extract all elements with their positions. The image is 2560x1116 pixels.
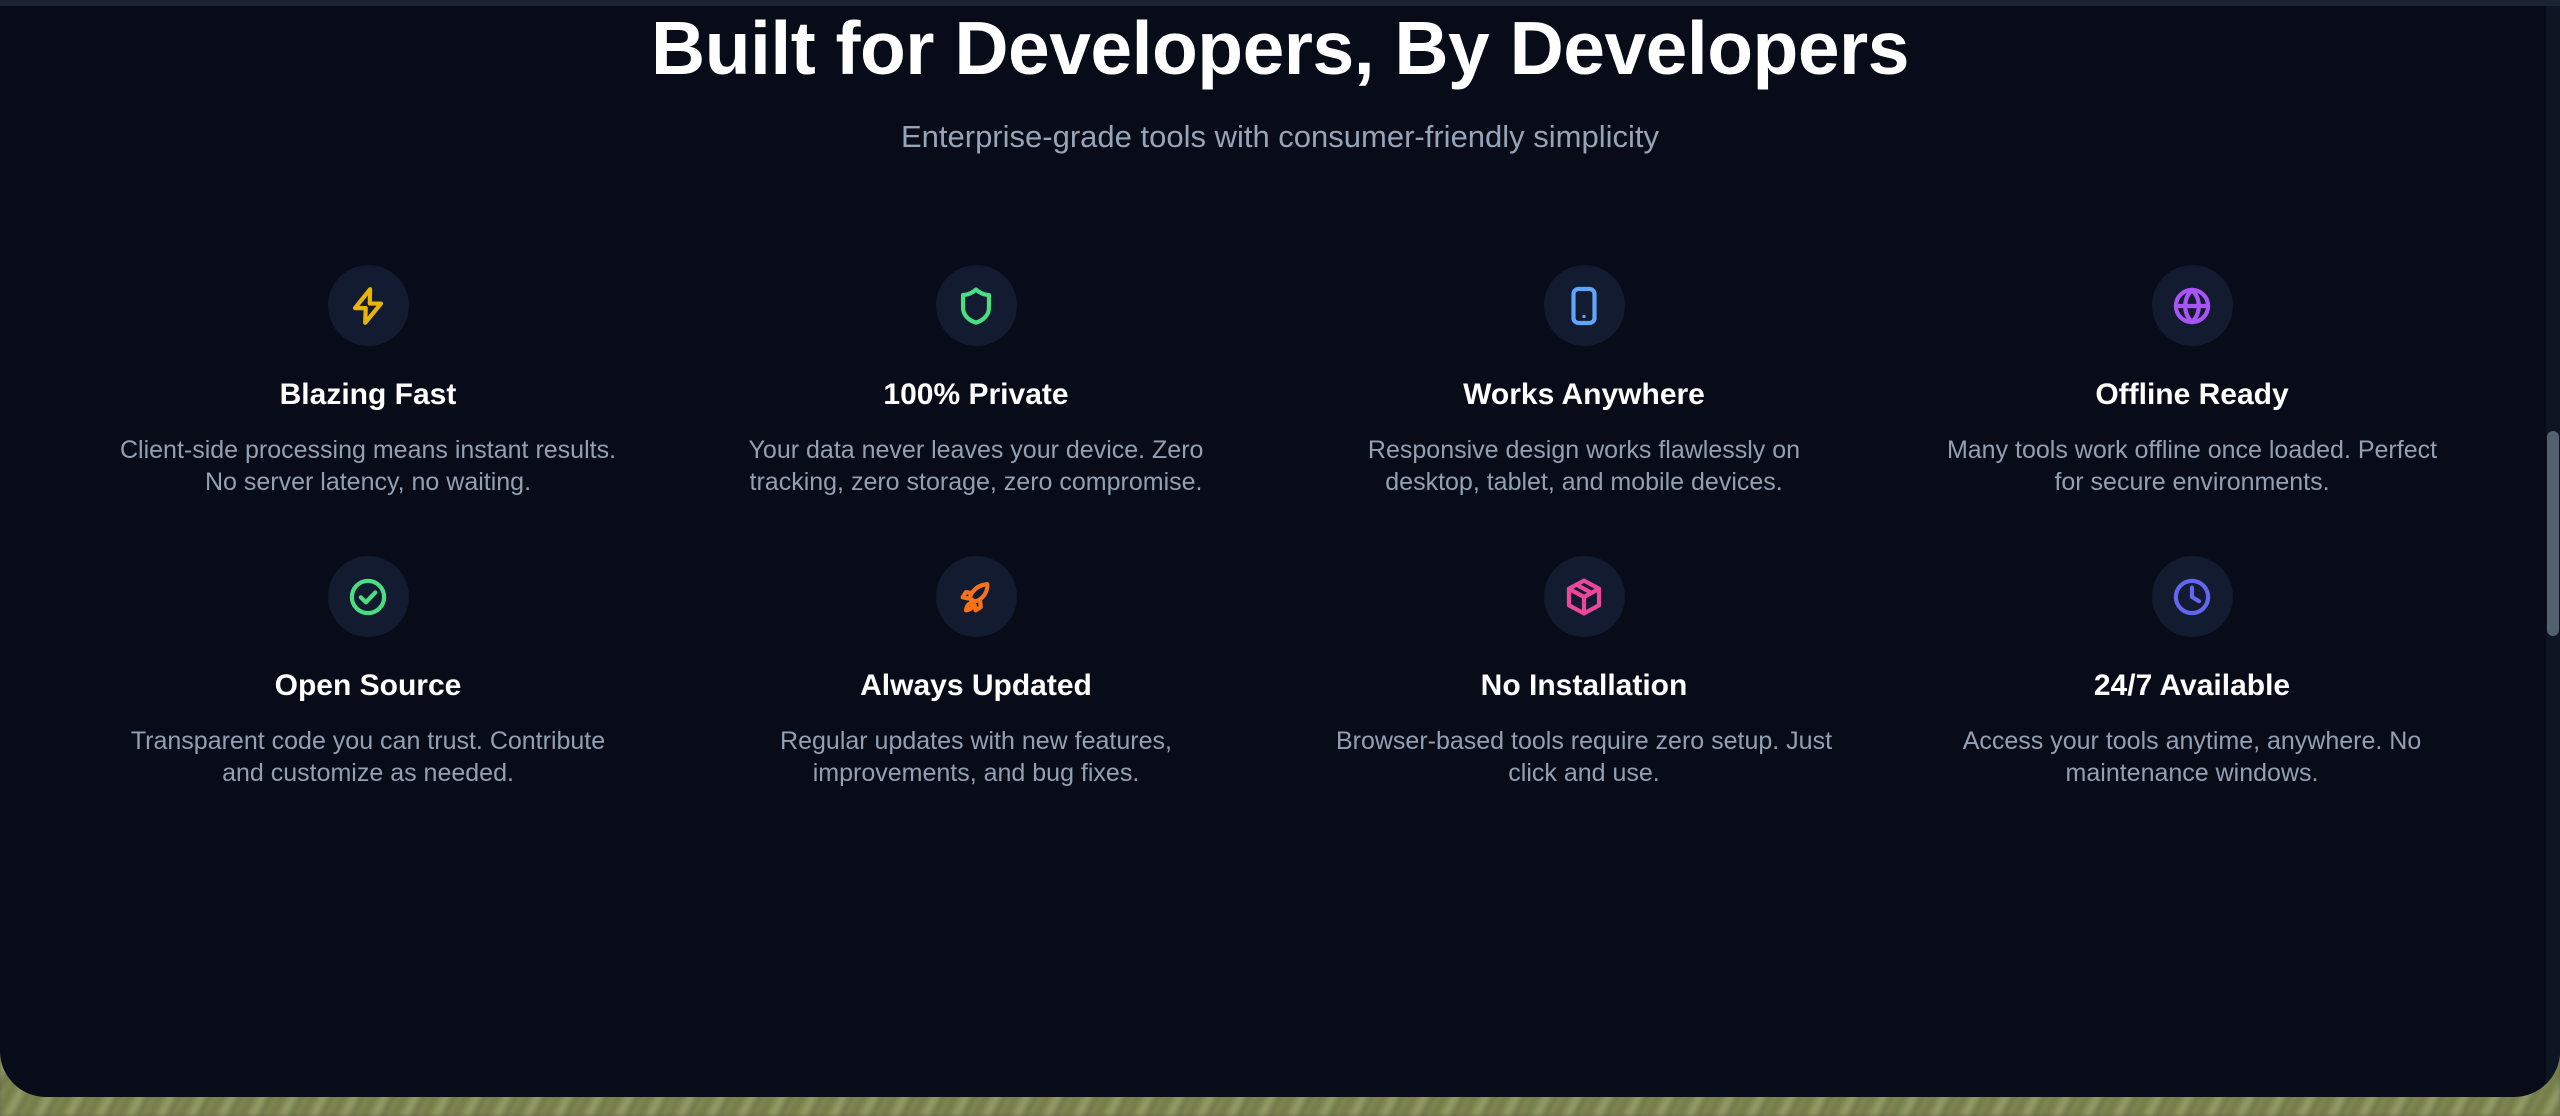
feature-description: Regular updates with new features, impro… [716,725,1236,789]
feature-title: Works Anywhere [1463,377,1705,413]
feature-title: No Installation [1481,668,1688,704]
clock-icon-wrapper [2152,556,2233,637]
page-title: Built for Developers, By Developers [64,6,2496,90]
feature-title: Offline Ready [2095,377,2288,413]
shield-icon-wrapper [936,265,1017,346]
feature-card: Blazing FastClient-side processing means… [64,265,672,498]
feature-description: Client-side processing means instant res… [108,434,628,498]
feature-card: Open SourceTransparent code you can trus… [64,556,672,789]
feature-card: Works AnywhereResponsive design works fl… [1280,265,1888,498]
lightning-bolt-icon-wrapper [328,265,409,346]
feature-title: Blazing Fast [280,377,457,413]
features-section: Built for Developers, By Developers Ente… [0,0,2560,1097]
clock-icon [2171,576,2213,618]
lightning-bolt-icon [347,285,389,327]
feature-description: Access your tools anytime, anywhere. No … [1932,725,2452,789]
feature-description: Many tools work offline once loaded. Per… [1932,434,2452,498]
rocket-icon-wrapper [936,556,1017,637]
package-box-icon [1563,576,1605,618]
feature-card: 24/7 AvailableAccess your tools anytime,… [1888,556,2496,789]
feature-card: 100% PrivateYour data never leaves your … [672,265,1280,498]
shield-icon [955,285,997,327]
feature-card: Always UpdatedRegular updates with new f… [672,556,1280,789]
feature-title: 100% Private [883,377,1068,413]
check-circle-icon-wrapper [328,556,409,637]
feature-description: Your data never leaves your device. Zero… [716,434,1236,498]
rocket-icon [955,576,997,618]
smartphone-icon [1563,285,1605,327]
page-subtitle: Enterprise-grade tools with consumer-fri… [64,118,2496,155]
globe-icon-wrapper [2152,265,2233,346]
feature-card: Offline ReadyMany tools work offline onc… [1888,265,2496,498]
feature-title: Open Source [275,668,462,704]
feature-description: Responsive design works flawlessly on de… [1324,434,1844,498]
feature-description: Browser-based tools require zero setup. … [1324,725,1844,789]
vertical-scrollbar-thumb[interactable] [2547,431,2559,636]
browser-window: Built for Developers, By Developers Ente… [0,0,2560,1097]
feature-description: Transparent code you can trust. Contribu… [108,725,628,789]
check-circle-icon [347,576,389,618]
feature-title: Always Updated [860,668,1092,704]
feature-title: 24/7 Available [2094,668,2290,704]
vertical-scrollbar-track[interactable] [2546,6,2560,1097]
globe-icon [2171,285,2213,327]
smartphone-icon-wrapper [1544,265,1625,346]
features-grid: Blazing FastClient-side processing means… [64,265,2496,789]
feature-card: No InstallationBrowser-based tools requi… [1280,556,1888,789]
package-box-icon-wrapper [1544,556,1625,637]
